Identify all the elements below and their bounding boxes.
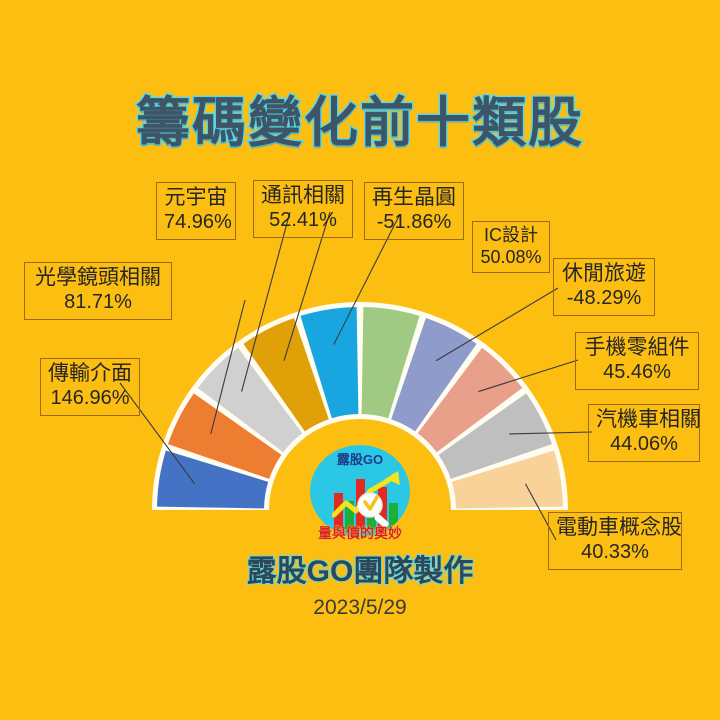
callout-auto-motorcycle[interactable]: 汽機車相關 44.06% xyxy=(588,404,700,462)
callout-phone-components[interactable]: 手機零組件 45.46% xyxy=(575,332,699,390)
callout-label: 傳輸介面 xyxy=(48,362,132,386)
callout-label: 光學鏡頭相關 xyxy=(32,266,164,290)
callout-label: 手機零組件 xyxy=(583,336,691,360)
callout-metaverse[interactable]: 元宇宙 74.96% xyxy=(156,182,236,240)
leader-line xyxy=(436,288,558,361)
team-credit: 露股GO團隊製作 xyxy=(0,546,720,590)
callout-value: 74.96% xyxy=(164,211,228,234)
callout-value: 44.06% xyxy=(596,433,692,456)
callout-label: 休閒旅遊 xyxy=(561,262,647,286)
callout-value: 146.96% xyxy=(48,387,132,410)
callout-optical-lens[interactable]: 光學鏡頭相關 81.71% xyxy=(24,262,172,320)
brand-logo: 露股GO 量與價的奧妙 xyxy=(303,441,417,541)
poster-canvas: 籌碼變化前十類股 傳輸介面 146.96% 光學鏡頭相關 81.71% 元宇宙 … xyxy=(0,0,720,720)
callout-value: 81.71% xyxy=(32,291,164,314)
callout-communications[interactable]: 通訊相關 52.41% xyxy=(253,180,353,238)
logo-chart-icon xyxy=(332,471,404,529)
callout-leisure-travel[interactable]: 休閒旅遊 -48.29% xyxy=(553,258,655,316)
callout-label: 電動車概念股 xyxy=(556,516,674,540)
callout-label: 元宇宙 xyxy=(164,186,228,210)
callout-value: 50.08% xyxy=(480,247,542,268)
logo-bottom-text: 量與價的奧妙 xyxy=(303,523,417,543)
callout-reclaimed-wafer[interactable]: 再生晶圓 -51.86% xyxy=(364,182,464,240)
callout-ic-design[interactable]: IC設計 50.08% xyxy=(472,221,550,273)
date-stamp: 2023/5/29 xyxy=(0,596,720,620)
callout-transmission-interface[interactable]: 傳輸介面 146.96% xyxy=(40,358,140,416)
callout-value: 52.41% xyxy=(261,209,345,232)
callout-label: 汽機車相關 xyxy=(596,408,692,432)
callout-value: -48.29% xyxy=(561,287,647,310)
callout-value: -51.86% xyxy=(372,211,456,234)
callout-value: 45.46% xyxy=(583,361,691,384)
logo-top-text: 露股GO xyxy=(303,449,417,468)
callout-label: 通訊相關 xyxy=(261,184,345,208)
callout-label: 再生晶圓 xyxy=(372,186,456,210)
callout-label: IC設計 xyxy=(480,225,542,246)
